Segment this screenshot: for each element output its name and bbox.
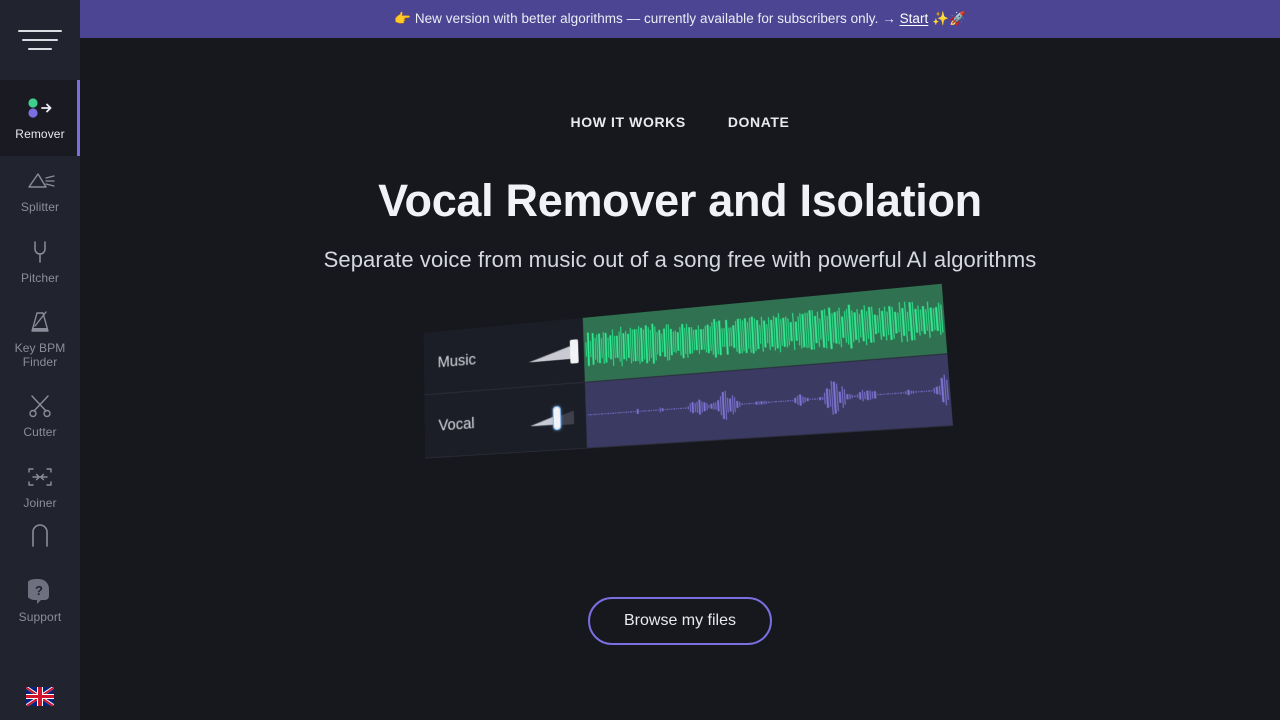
waveform-bar [878, 308, 882, 340]
waveform-bar [699, 399, 701, 415]
waveform-bar [713, 403, 715, 410]
sidebar-item-cutter[interactable]: Cutter [0, 381, 80, 452]
waveform-bar [838, 307, 842, 347]
waveform-bar [790, 400, 791, 401]
waveform-bar [941, 377, 945, 402]
waveform-bar [946, 379, 949, 400]
waveform-bar [843, 311, 847, 344]
waveform-bar [787, 401, 788, 402]
waveform-bar [812, 399, 813, 400]
waveform-bar [864, 392, 866, 399]
waveform-bar [734, 397, 736, 413]
waveform-bar [834, 312, 838, 344]
hamburger-line [18, 30, 62, 32]
waveform-bar [635, 411, 636, 412]
waveform-bar [692, 402, 694, 412]
waveform-bar [777, 313, 781, 352]
waveform-bar [623, 412, 624, 413]
waveform-bar [931, 390, 933, 391]
waveform-bar [703, 403, 705, 411]
nav-link-how-it-works[interactable]: HOW IT WORKS [571, 114, 686, 130]
waveform-bar [794, 398, 796, 403]
waveform-bar [718, 320, 721, 356]
waveform-bar [716, 322, 719, 354]
waveform-bar [826, 316, 829, 342]
tracks-illustration: Music Vocal [400, 307, 960, 507]
waveform-bar [630, 412, 631, 413]
waveform-bar [721, 328, 723, 347]
svg-text:?: ? [35, 583, 43, 598]
waveform-bar [831, 313, 834, 343]
track-name: Music [424, 345, 529, 373]
sidebar-spacer [0, 637, 80, 678]
waveform-bar [877, 394, 879, 395]
waveform-bar [641, 411, 642, 412]
waveform-bar [829, 389, 832, 406]
waveform-bar [664, 409, 665, 410]
waveform-bar [885, 394, 887, 395]
waveform-bar [926, 391, 928, 392]
waveform-bar [823, 309, 827, 349]
waveform-bar [913, 391, 915, 393]
waveform-bar [594, 414, 595, 415]
waveform-bar [792, 400, 793, 401]
waveform-bar [814, 399, 815, 400]
waveform-bar [854, 312, 857, 340]
waveform-bar [821, 311, 825, 348]
waveform-bar [780, 401, 781, 402]
waveform-bar [711, 404, 713, 409]
waveform-bar [849, 394, 851, 399]
waveform-bar [608, 413, 609, 414]
waveform-bar [861, 310, 865, 341]
sidebar-item-support[interactable]: ? Support [0, 566, 80, 637]
sidebar-item-splitter[interactable]: Splitter [0, 156, 80, 227]
waveform-bar [872, 392, 874, 398]
waveform-bar [717, 400, 719, 411]
waveform-bar [933, 308, 936, 330]
waveform-bar [696, 402, 698, 413]
waveform-bar [746, 403, 747, 404]
waveform-bar [922, 306, 926, 334]
waveform-bar [886, 311, 889, 335]
main-content: 👉 New version with better algorithms — c… [80, 0, 1280, 720]
flag-stripe [38, 687, 42, 706]
hamburger-line [28, 48, 52, 50]
waveform-bar [606, 413, 607, 414]
nav-link-donate[interactable]: DONATE [728, 114, 790, 130]
waveform-bar [603, 413, 604, 414]
waveform-bar [809, 399, 810, 400]
sidebar-item-label: Joiner [23, 497, 56, 511]
waveform-bar [914, 309, 917, 332]
waveform-bar [639, 411, 640, 412]
waveform-bar [925, 309, 928, 331]
metronome-icon [22, 307, 58, 337]
waveform-bar [895, 393, 897, 394]
waveform-bar [866, 311, 869, 339]
waveform-bar [792, 313, 796, 351]
waveform-bar [644, 411, 645, 412]
waveform-bar [848, 305, 852, 348]
waveform-bar [809, 310, 813, 349]
waveform-bar [782, 401, 783, 402]
waveform-bar [910, 390, 912, 394]
waveform-bar [844, 389, 846, 404]
waveform-bar [903, 392, 905, 393]
waveform-bar [819, 397, 821, 400]
track-name: Vocal [425, 409, 531, 435]
waveform-bar [899, 302, 903, 342]
waveform-bar [874, 391, 876, 399]
waveform-bar [610, 413, 611, 414]
waveform-bar [723, 328, 725, 347]
top-navigation: HOW IT WORKS DONATE [571, 114, 790, 130]
waveform-bar [775, 318, 778, 348]
joiner-icon [22, 462, 58, 492]
waveform-bar [785, 401, 786, 402]
waveform-bar [927, 301, 931, 338]
waveform-bar [822, 396, 824, 400]
waveform-bar [742, 321, 745, 351]
browse-files-button[interactable]: Browse my files [588, 597, 772, 645]
sidebar-item-remover[interactable]: Remover [0, 80, 80, 156]
waveform-bar [937, 303, 941, 335]
waveform-bar [824, 392, 826, 404]
track-list: Music Vocal [424, 284, 953, 459]
waveform-bar [655, 410, 656, 411]
waveform-bar [799, 313, 803, 349]
waveform-bar [928, 391, 930, 392]
waveform-bar [839, 392, 841, 404]
waveform-bar [763, 321, 766, 348]
waveform-bar [727, 398, 729, 412]
waveform-bar [826, 389, 829, 408]
waveform-bar [763, 401, 765, 405]
promo-banner-text: 👉 New version with better algorithms — c… [394, 11, 966, 27]
waveform-bar [768, 402, 769, 403]
waveform-bar [683, 408, 684, 409]
waveform-bar [876, 316, 879, 333]
waveform-bar [766, 324, 768, 344]
waveform-bar [907, 312, 910, 332]
waveform-bar [799, 394, 801, 406]
waveform-bar [725, 320, 728, 355]
waveform-bar [626, 412, 627, 413]
waveform-bar [749, 318, 752, 353]
waveform-bar [669, 409, 670, 410]
waveform-bar [851, 310, 855, 342]
waveform-bar [889, 306, 893, 340]
waveform-bar [756, 320, 759, 349]
waveform-bar [814, 316, 817, 343]
waveform-bar [729, 398, 731, 412]
waveform-bar [936, 387, 938, 395]
waveform-bar [869, 391, 871, 400]
waveform-bar [836, 384, 839, 412]
slider-knob[interactable] [570, 339, 579, 364]
waveform-bar [765, 401, 767, 404]
waveform-bar [601, 414, 602, 415]
waveform-bar [920, 309, 923, 331]
waveform-bar [804, 313, 808, 348]
waveform-bar [722, 392, 725, 419]
waveform-bar [866, 391, 868, 400]
waveform-bar [778, 401, 779, 402]
waveform-bar [935, 307, 938, 331]
waveform-bar [846, 308, 850, 345]
waveform-bar [884, 307, 888, 340]
waveform-bar [761, 317, 764, 351]
waveform-bar [720, 396, 722, 416]
waveform-bar [708, 405, 709, 408]
splitter-icon [22, 166, 58, 196]
waveform-bar [758, 401, 760, 405]
waveform-bar [637, 409, 639, 415]
slider-knob[interactable] [552, 405, 561, 430]
waveform-bar [892, 393, 894, 394]
hamburger-menu-icon[interactable] [0, 0, 80, 80]
waveform-bar [930, 308, 933, 332]
waveform-bar [744, 318, 747, 353]
waveform-bar [667, 409, 668, 410]
waveform-bar [651, 410, 652, 411]
waveform-bar [751, 403, 752, 404]
waveform-bar [854, 395, 856, 397]
waveform-bar [943, 375, 947, 405]
waveform-bar [770, 402, 771, 403]
waveform-bar [795, 322, 798, 341]
waveform-bar [790, 322, 793, 341]
tracks-illustration-inner: Music Vocal [424, 282, 982, 520]
waveform-bar [646, 410, 647, 411]
recorder-icon [22, 522, 58, 548]
waveform-bar [833, 382, 836, 413]
waveform-bar [588, 415, 589, 416]
waveform-bar [753, 403, 754, 405]
waveform-bar [918, 391, 920, 392]
waveform-bar [836, 311, 840, 345]
waveform-bar [782, 318, 785, 347]
waveform-bar [660, 408, 661, 412]
waveform-bar [897, 393, 899, 394]
sidebar-item-label: Support [19, 611, 62, 625]
waveform-bar [747, 322, 750, 349]
waveform-bar [597, 414, 598, 415]
waveform-bar [905, 391, 907, 395]
waveform-bar [819, 318, 822, 340]
waveform-bar [773, 402, 774, 403]
hamburger-line [22, 39, 58, 41]
waveform-bar [904, 301, 908, 341]
waveform-bar [911, 302, 915, 340]
sidebar-item-label: Remover [15, 128, 64, 142]
waveform-bar [887, 394, 889, 395]
waveform-bar [749, 403, 750, 404]
waveform-bar [797, 396, 799, 405]
waveform-bar [841, 316, 844, 338]
slider-track [528, 345, 572, 362]
sparkles-rocket-icon: ✨🚀 [932, 11, 966, 26]
waveform-bar [900, 393, 902, 394]
remover-icon [22, 93, 58, 123]
waveform-bar [619, 412, 620, 413]
promo-start-link[interactable]: Start [900, 11, 929, 26]
waveform-bar [806, 312, 810, 347]
waveform-bar [728, 327, 730, 347]
pointing-hand-icon: 👉 [394, 11, 411, 26]
waveform-bar [617, 413, 618, 414]
waveform-bar [676, 408, 677, 409]
waveform-bar [940, 305, 944, 333]
waveform-bar [861, 390, 863, 402]
waveform-bar [846, 394, 848, 400]
waveform-bar [804, 397, 806, 402]
waveform-bar [923, 391, 925, 392]
waveform-bar [816, 312, 820, 347]
waveform-bar [737, 401, 739, 408]
waveform-bar [915, 392, 917, 393]
waveform-bar [939, 385, 941, 395]
sidebar-item-recorder[interactable] [0, 522, 80, 548]
sidebar-item-key-bpm-finder[interactable]: Key BPM Finder [0, 297, 80, 381]
waveform-bar [673, 409, 674, 410]
waveform-bar [657, 409, 658, 411]
waveform-bar [933, 388, 935, 394]
waveform-bar [859, 314, 862, 337]
waveform-bar [621, 412, 622, 413]
waveform-bar [671, 409, 672, 410]
waveform-bar [648, 410, 649, 411]
waveform-bar [731, 395, 733, 414]
waveform-bar [909, 303, 913, 340]
waveform-bar [863, 306, 867, 345]
waveform-bar [733, 325, 736, 348]
waveform-bar [680, 408, 681, 409]
waveform-bar [687, 407, 688, 410]
sidebar: Remover Splitter Pitcher [0, 0, 80, 720]
waveform-bar [874, 314, 877, 334]
waveform-bar [759, 325, 761, 345]
waveform-bar [678, 408, 679, 409]
waveform-bar [890, 393, 892, 394]
waveform-bar [897, 312, 900, 333]
waveform-bar [828, 308, 832, 349]
uk-flag-icon[interactable] [26, 687, 54, 706]
waveform-bar [701, 401, 703, 412]
waveform-bar [831, 381, 835, 414]
waveform-bar [653, 410, 654, 411]
waveform-bar [612, 413, 613, 414]
help-bubble-icon: ? [22, 576, 58, 606]
waveform-bar [751, 317, 754, 354]
waveform-bar [590, 414, 591, 415]
waveform-bar [871, 306, 875, 343]
waveform-bar [685, 408, 686, 409]
waveform-bar [797, 316, 800, 346]
waveform-bar [879, 394, 881, 395]
waveform-bar [852, 395, 854, 398]
music-volume-slider[interactable] [528, 336, 579, 369]
waveform-bar [735, 321, 738, 352]
waveform-bar [785, 317, 788, 348]
waveform-bar [614, 413, 615, 414]
app-root: Remover Splitter Pitcher [0, 0, 1280, 720]
waveform-bar [917, 305, 921, 336]
waveform-bar [739, 319, 742, 353]
waveform-bar [632, 411, 633, 412]
waveform-bar [754, 319, 757, 351]
waveform-bar [901, 308, 905, 336]
waveform-bar [868, 307, 872, 343]
vocal-volume-slider[interactable] [530, 401, 581, 433]
waveform-bar [802, 314, 805, 347]
sidebar-item-label: Pitcher [21, 272, 59, 286]
waveform-bar [756, 402, 758, 405]
waveform-bar [592, 414, 593, 415]
sidebar-item-joiner[interactable]: Joiner [0, 452, 80, 523]
pitcher-icon [22, 237, 58, 267]
waveform-bar [775, 401, 776, 402]
waveform-bar [857, 394, 859, 397]
waveform-bar [730, 328, 732, 347]
waveform-bar [744, 404, 745, 405]
sidebar-item-label: Cutter [23, 426, 56, 440]
waveform-bar [768, 317, 771, 350]
waveform-bar [859, 392, 861, 399]
waveform-bar [761, 401, 763, 405]
waveform-bar [694, 403, 696, 413]
scissors-icon [22, 391, 58, 421]
waveform-bar [773, 316, 776, 351]
sidebar-item-pitcher[interactable]: Pitcher [0, 227, 80, 298]
waveform-bar [882, 394, 884, 395]
page-title: Vocal Remover and Isolation [378, 175, 982, 227]
waveform-bar [741, 403, 742, 405]
waveform-bar [807, 398, 809, 401]
waveform-bar [787, 318, 790, 346]
sidebar-item-label: Splitter [21, 201, 59, 215]
waveform-bar [770, 319, 773, 347]
waveform-bar [780, 319, 783, 347]
waveform-bar [662, 408, 663, 411]
waveform-bar [737, 319, 740, 353]
waveform-bar [817, 398, 818, 399]
waveform-bar [811, 310, 815, 349]
waveform-bar [724, 390, 727, 420]
waveform-bar [891, 307, 895, 339]
waveform-bar [921, 391, 923, 392]
waveform-bar [841, 386, 844, 409]
waveform-bar [856, 309, 860, 342]
waveform-bar [881, 311, 884, 336]
waveform-bar [908, 390, 910, 396]
page-subtitle: Separate voice from music out of a song … [324, 247, 1037, 273]
waveform-bar [706, 403, 708, 410]
promo-message: New version with better algorithms — cur… [415, 11, 896, 26]
waveform-bar [739, 402, 741, 407]
waveform-bar [689, 403, 691, 412]
sidebar-item-label: Key BPM Finder [2, 342, 78, 369]
waveform-bar [894, 312, 897, 334]
waveform-bar [628, 412, 629, 413]
waveform-bar [599, 414, 600, 415]
promo-banner: 👉 New version with better algorithms — c… [80, 0, 1280, 38]
waveform-bar [802, 397, 804, 403]
waveform-bar [715, 402, 717, 409]
